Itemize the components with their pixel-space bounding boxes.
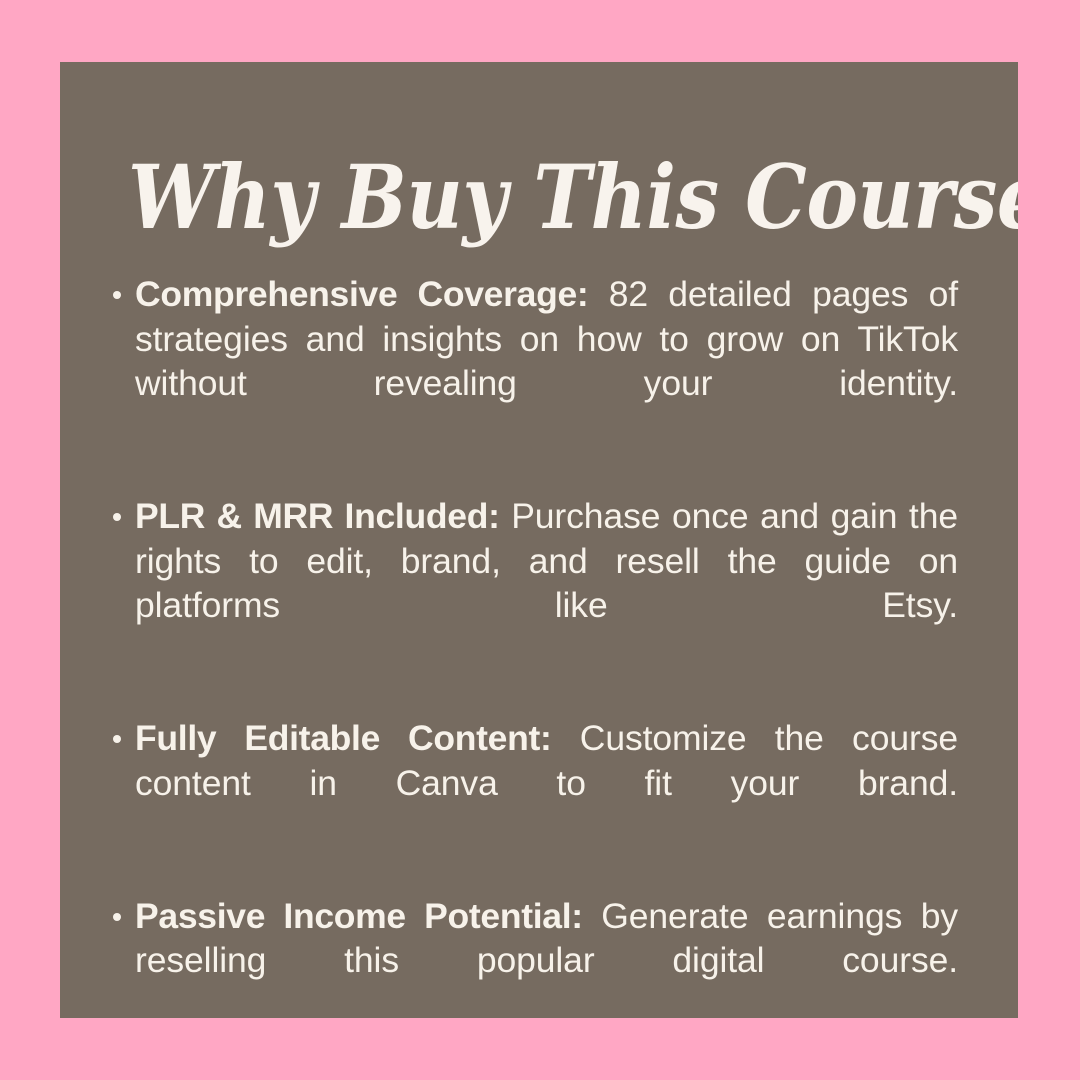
list-item-text: Fully Editable Content: Customize the co… (135, 716, 958, 850)
list-item: Comprehensive Coverage: 82 detailed page… (113, 272, 958, 450)
poster-canvas: Why Buy This Course? Comprehensive Cover… (0, 0, 1080, 1080)
bullet-dot-icon (113, 735, 121, 743)
bullet-dot-icon (113, 291, 121, 299)
content-card: Why Buy This Course? Comprehensive Cover… (60, 62, 1018, 1018)
benefits-list: Comprehensive Coverage: 82 detailed page… (113, 272, 958, 1018)
list-item-lead: PLR & MRR Included: (135, 496, 500, 536)
bullet-dot-icon (113, 913, 121, 921)
page-title: Why Buy This Course? (128, 153, 851, 241)
list-item-lead: Fully Editable Content: (135, 718, 552, 758)
list-item: Passive Income Potential: Generate earni… (113, 894, 958, 1019)
list-item: Fully Editable Content: Customize the co… (113, 716, 958, 850)
bullet-dot-icon (113, 513, 121, 521)
list-item: PLR & MRR Included: Purchase once and ga… (113, 494, 958, 672)
list-item-text: Passive Income Potential: Generate earni… (135, 894, 958, 1019)
list-item-text: Comprehensive Coverage: 82 detailed page… (135, 272, 958, 450)
list-item-lead: Comprehensive Coverage: (135, 274, 588, 314)
list-item-lead: Passive Income Potential: (135, 896, 583, 936)
list-item-text: PLR & MRR Included: Purchase once and ga… (135, 494, 958, 672)
